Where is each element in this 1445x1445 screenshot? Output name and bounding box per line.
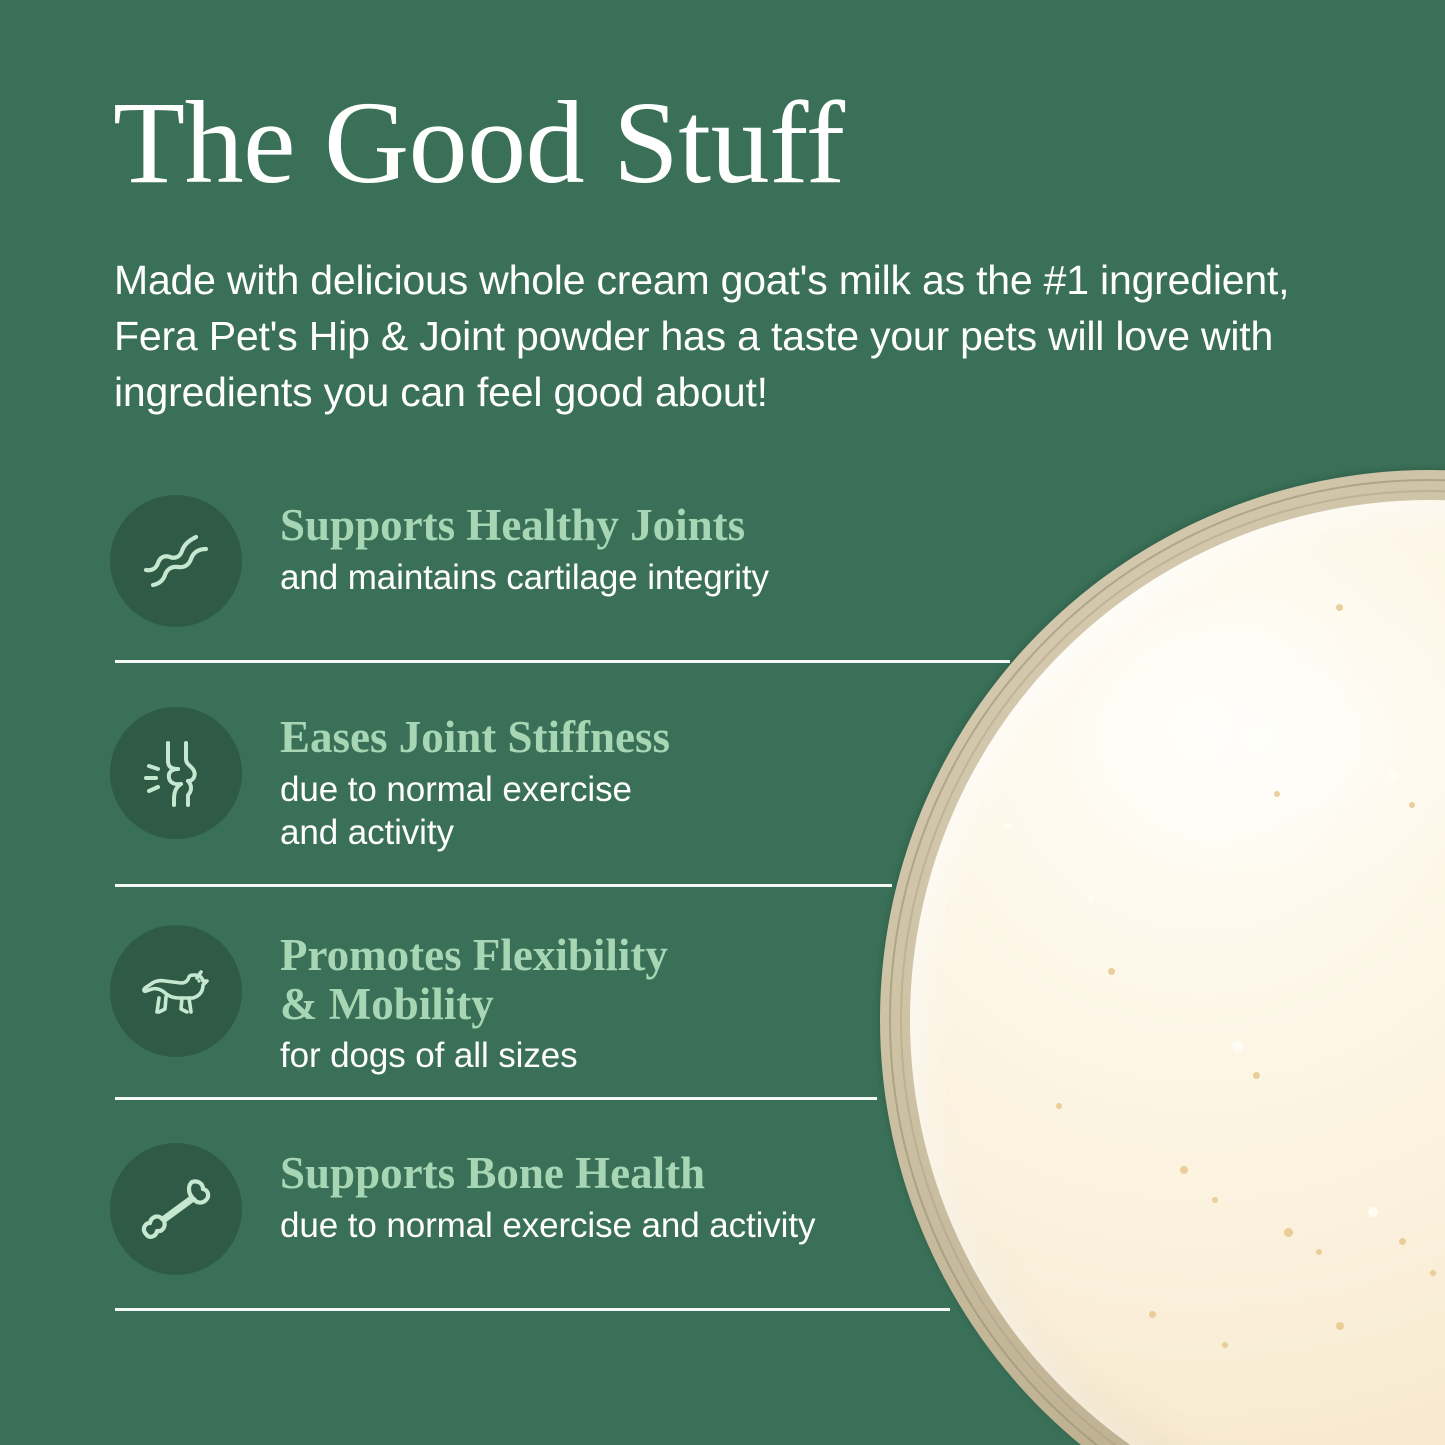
powder-highlight: [1014, 562, 1445, 916]
jar-rim: [880, 470, 1445, 1445]
benefit-subtext: for dogs of all sizes: [280, 1034, 668, 1078]
divider-2: [115, 884, 892, 887]
benefit-row-2: Eases Joint Stiffness due to normal exer…: [110, 707, 670, 855]
bone-icon: [110, 1143, 242, 1275]
page-title: The Good Stuff: [113, 82, 845, 205]
benefit-headline: Supports Healthy Joints: [280, 501, 769, 550]
benefit-row-3: Promotes Flexibility& Mobility for dogs …: [110, 925, 668, 1078]
benefit-subtext: due to normal exerciseand activity: [280, 768, 670, 856]
jar-rim-groove-outer: [889, 479, 1445, 1445]
joint-pain-relief-icon: [110, 707, 242, 839]
benefit-headline: Supports Bone Health: [280, 1149, 815, 1198]
promo-graphic: The Good Stuff Made with delicious whole…: [0, 0, 1445, 1445]
benefit-headline: Promotes Flexibility& Mobility: [280, 931, 668, 1028]
benefit-subtext: and maintains cartilage integrity: [280, 556, 769, 600]
benefit-subtext: due to normal exercise and activity: [280, 1204, 815, 1248]
product-jar-image: [880, 470, 1445, 1445]
intro-paragraph: Made with delicious whole cream goat's m…: [114, 252, 1304, 420]
joint-cartilage-icon: [110, 495, 242, 627]
benefit-row-4: Supports Bone Health due to normal exerc…: [110, 1143, 815, 1275]
divider-4: [115, 1308, 950, 1311]
jar-powder-surface: [910, 500, 1445, 1445]
divider-3: [115, 1097, 877, 1100]
benefit-row-1: Supports Healthy Joints and maintains ca…: [110, 495, 769, 627]
dog-silhouette-icon: [110, 925, 242, 1057]
divider-1: [115, 660, 1010, 663]
jar-rim-groove-inner: [900, 490, 1445, 1445]
benefit-headline: Eases Joint Stiffness: [280, 713, 670, 762]
